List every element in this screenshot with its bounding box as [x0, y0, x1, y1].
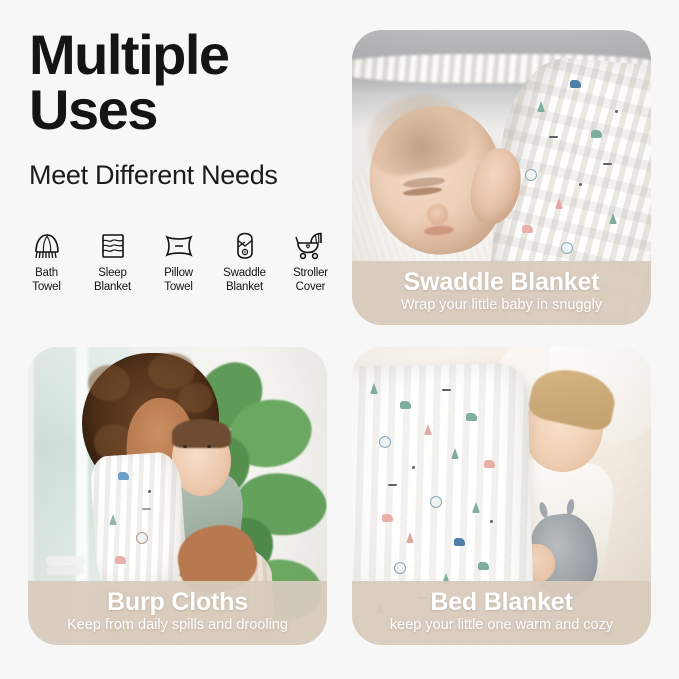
caption-subtitle: Keep from daily spills and drooling: [38, 617, 317, 634]
page-subtitle: Meet Different Needs: [29, 160, 349, 191]
caption-swaddle-blanket: Swaddle Blanket Wrap your little baby in…: [352, 261, 651, 325]
feature-item-swaddle-blanket: Swaddle Blanket: [216, 229, 273, 294]
label-line-1: Sleep: [98, 267, 126, 279]
feature-label-sleep-blanket: Sleep Blanket: [94, 267, 131, 294]
label-line-1: Stroller: [293, 267, 328, 279]
label-line-2: Blanket: [226, 281, 263, 293]
card-burp-cloths[interactable]: Burp Cloths Keep from daily spills and d…: [28, 347, 327, 645]
card-bed-blanket[interactable]: Bed Blanket keep your little one warm an…: [352, 347, 651, 645]
feature-label-pillow-towel: Pillow Towel: [164, 267, 193, 294]
label-line-2: Cover: [296, 281, 326, 293]
caption-title: Swaddle Blanket: [362, 268, 641, 296]
swaddle-blanket-icon: [230, 229, 260, 263]
feature-label-stroller-cover: Stroller Cover: [293, 267, 328, 294]
caption-burp-cloths: Burp Cloths Keep from daily spills and d…: [28, 581, 327, 645]
bath-towel-icon: [30, 229, 64, 263]
label-line-1: Pillow: [164, 267, 193, 279]
feature-label-swaddle-blanket: Swaddle Blanket: [223, 267, 266, 294]
feature-item-sleep-blanket: Sleep Blanket: [84, 229, 141, 294]
sleep-blanket-icon: [97, 229, 129, 263]
feature-icon-row: Bath Towel Sleep Blanket: [18, 229, 348, 294]
feature-item-pillow-towel: Pillow Towel: [150, 229, 207, 294]
label-line-2: Blanket: [94, 281, 131, 293]
label-line-1: Swaddle: [223, 267, 266, 279]
headline-line-2: Uses: [29, 83, 349, 138]
burp-cloth-fabric: [89, 451, 188, 600]
pillow-towel-icon: [162, 229, 196, 263]
caption-subtitle: Wrap your little baby in snuggly: [362, 297, 641, 314]
label-line-1: Bath: [35, 267, 58, 279]
caption-bed-blanket: Bed Blanket keep your little one warm an…: [352, 581, 651, 645]
page-title: Multiple Uses: [29, 28, 349, 138]
label-line-2: Towel: [164, 281, 192, 293]
caption-title: Burp Cloths: [38, 588, 317, 616]
feature-item-stroller-cover: Stroller Cover: [282, 229, 339, 294]
feature-item-bath-towel: Bath Towel: [18, 229, 75, 294]
caption-title: Bed Blanket: [362, 588, 641, 616]
card-swaddle-blanket[interactable]: Swaddle Blanket Wrap your little baby in…: [352, 30, 651, 325]
label-line-2: Towel: [32, 281, 60, 293]
infographic-canvas: Multiple Uses Meet Different Needs Bath …: [0, 0, 679, 679]
intro-block: Multiple Uses Meet Different Needs: [29, 28, 349, 191]
headline-line-1: Multiple: [29, 28, 349, 83]
caption-subtitle: keep your little one warm and cozy: [362, 617, 641, 634]
feature-label-bath-towel: Bath Towel: [32, 267, 60, 294]
stroller-cover-icon: [294, 229, 328, 263]
